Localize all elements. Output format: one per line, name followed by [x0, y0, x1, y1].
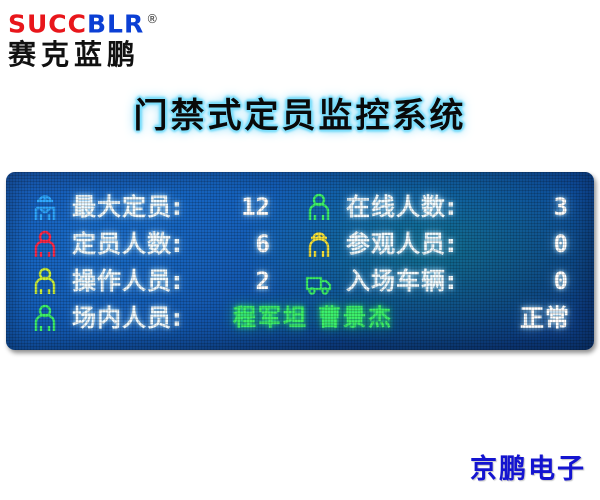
- led-label: 定员人数:: [72, 227, 183, 261]
- led-row: 最大定员: 12 在线人数: 3: [20, 190, 580, 226]
- led-display-panel: 最大定员: 12 在线人数: 3: [6, 172, 594, 350]
- led-value: 0: [554, 264, 568, 298]
- led-row: 定员人数: 6 参观人员: 0: [20, 227, 580, 263]
- people-on-site-names: 程军坦 曹景杰: [233, 301, 393, 335]
- led-value: 2: [256, 264, 270, 298]
- person-icon: [304, 192, 334, 224]
- led-value: 6: [256, 227, 270, 261]
- person-icon: [30, 303, 60, 335]
- led-label: 入场车辆:: [346, 264, 457, 298]
- led-field-operators: 操作人员: 2: [30, 264, 292, 300]
- truck-icon: [304, 266, 334, 298]
- led-label: 场内人员:: [72, 301, 183, 335]
- person-icon: [30, 229, 60, 261]
- page-title: 门禁式定员监控系统: [0, 88, 600, 137]
- led-label: 操作人员:: [72, 264, 183, 298]
- logo-chinese-text: 赛克蓝鹏: [8, 39, 238, 71]
- led-label: 最大定员:: [72, 190, 183, 224]
- person-cap-icon: [30, 192, 60, 224]
- led-field-visitor-count: 参观人员: 0: [304, 227, 578, 263]
- led-row: 操作人员: 2 入场车辆: 0: [20, 264, 580, 300]
- registered-trademark-icon: ®: [146, 12, 159, 26]
- led-field-vehicles-entered: 入场车辆: 0: [304, 264, 578, 300]
- led-label: 参观人员:: [346, 227, 457, 261]
- led-value: 3: [554, 190, 568, 224]
- led-content-area: 最大定员: 12 在线人数: 3: [20, 184, 580, 336]
- led-label: 在线人数:: [346, 190, 457, 224]
- person-cap-icon: [304, 229, 334, 261]
- status-badge: 正常: [520, 301, 570, 335]
- logo-text-blr: BLR: [87, 9, 144, 38]
- led-field-online-count: 在线人数: 3: [304, 190, 578, 226]
- logo-text-succ: SUCC: [8, 9, 87, 38]
- led-field-max-capacity: 最大定员: 12: [30, 190, 292, 226]
- led-value: 0: [554, 227, 568, 261]
- footer-brand-text: 京鹏电子: [470, 447, 586, 486]
- person-icon: [30, 266, 60, 298]
- logo-latin-text: SUCCBLR®: [8, 6, 238, 37]
- led-value: 12: [241, 190, 270, 224]
- led-field-staff-quota: 定员人数: 6: [30, 227, 292, 263]
- company-logo: SUCCBLR® 赛克蓝鹏: [8, 6, 238, 74]
